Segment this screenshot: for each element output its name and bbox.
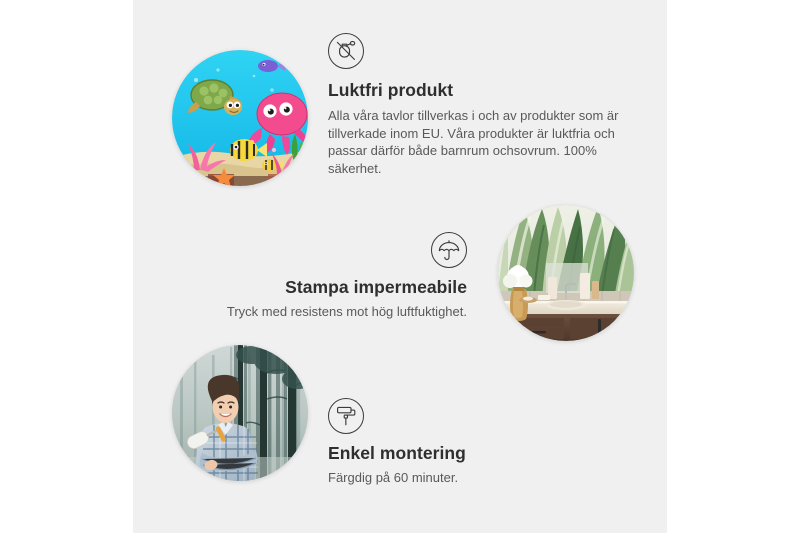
feature-easy-assembly: Enkel montering Färgdig på 60 minuter.	[328, 398, 624, 487]
feature-title: Luktfri produkt	[328, 80, 624, 101]
product-feature-banner: Luktfri produkt Alla våra tavlor tillver…	[0, 0, 800, 533]
feature-title: Enkel montering	[328, 443, 624, 464]
no-fragrance-icon	[328, 33, 364, 69]
feature-description: Alla våra tavlor tillverkas i och av pro…	[328, 107, 624, 177]
paint-roller-icon	[328, 398, 364, 434]
bathroom-leaf-wallpaper-photo	[498, 205, 634, 341]
umbrella-icon	[431, 232, 467, 268]
feature-title: Stampa impermeabile	[165, 277, 467, 298]
painter-forest-mural-photo	[172, 345, 308, 481]
feature-waterproof-print: Stampa impermeabile Tryck med resistens …	[165, 232, 467, 321]
feature-description: Tryck med resistens mot hög luftfuktighe…	[165, 303, 467, 321]
feature-description: Färgdig på 60 minuter.	[328, 469, 624, 487]
feature-odour-free: Luktfri produkt Alla våra tavlor tillver…	[328, 33, 624, 177]
ocean-kids-mural-photo	[172, 50, 308, 186]
